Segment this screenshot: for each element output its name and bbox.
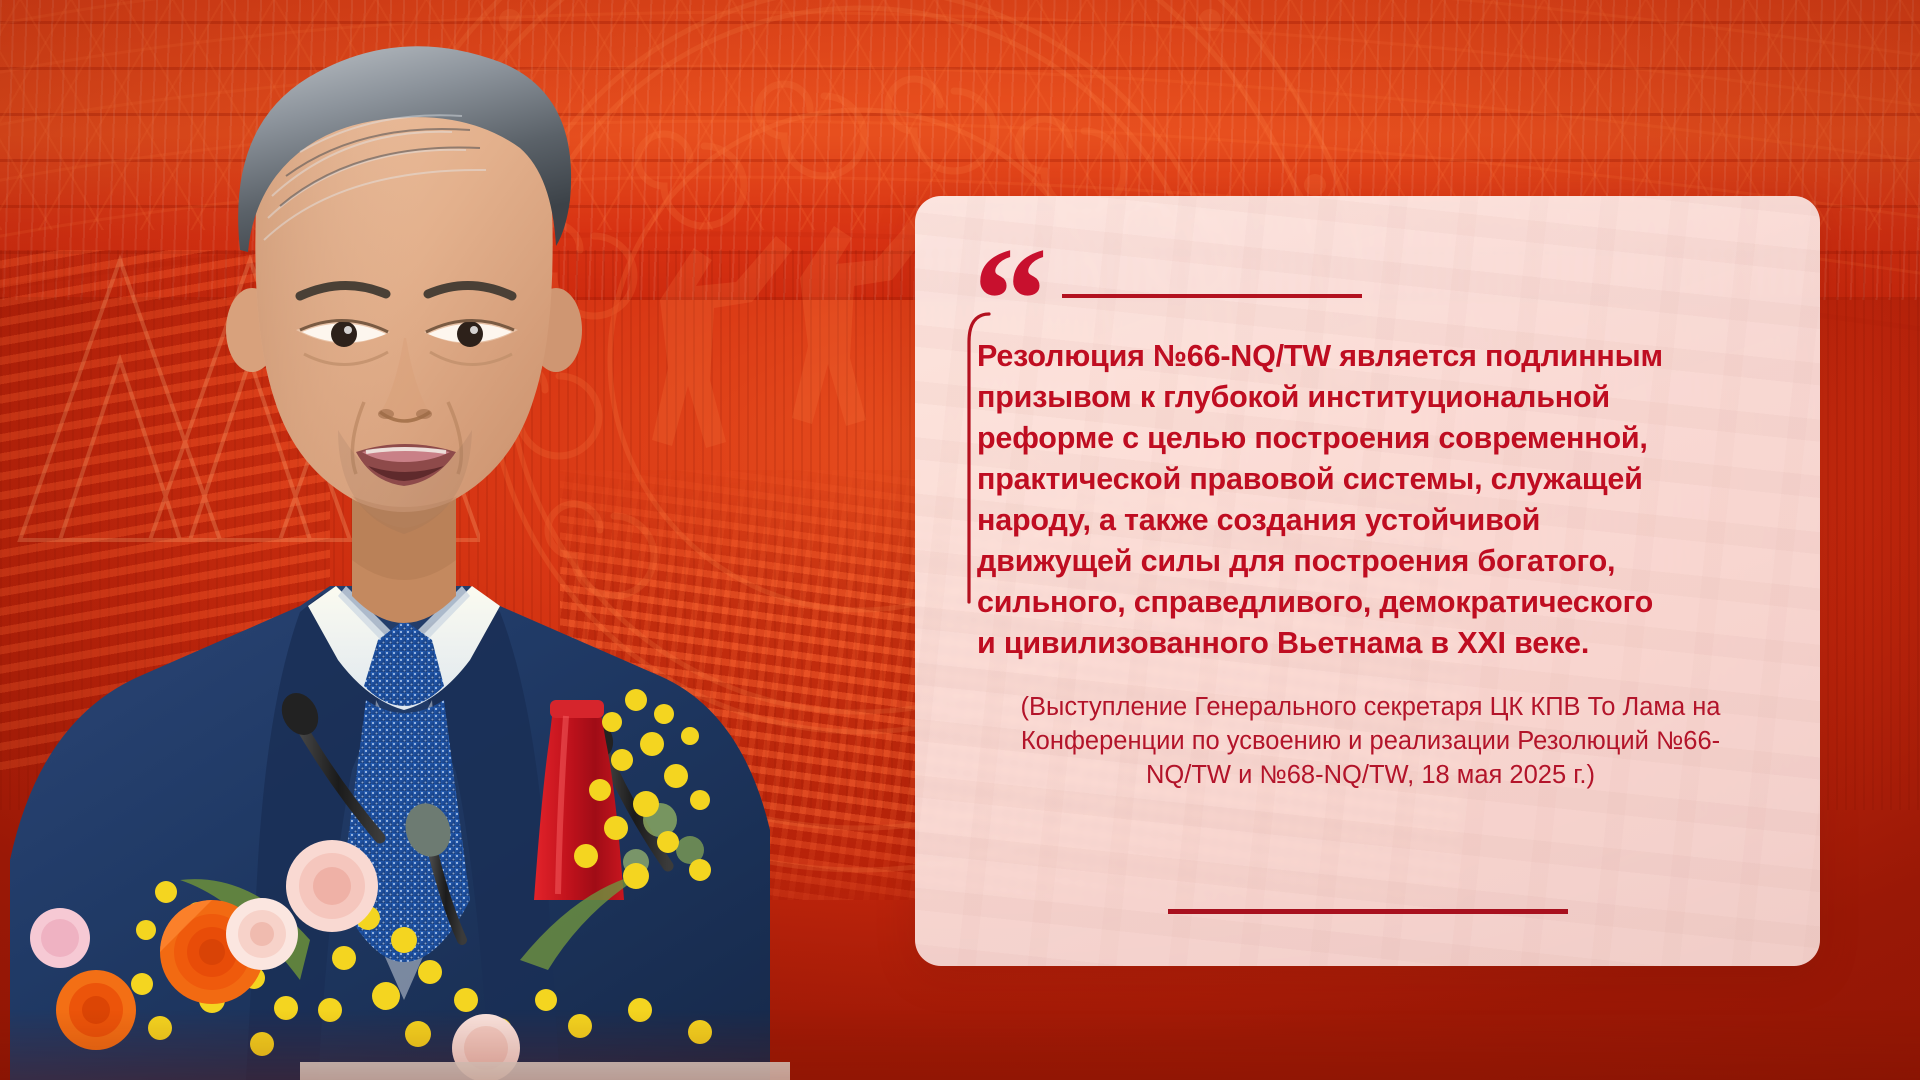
quote-top-rule (1062, 294, 1362, 298)
attribution-line: (Выступление Генерального секретаря ЦК К… (979, 690, 1762, 724)
quote-attribution: (Выступление Генерального секретаря ЦК К… (973, 690, 1768, 792)
quote-line: движущей силы для построения богатого, (977, 541, 1768, 582)
quote-bottom-rule (1168, 909, 1568, 914)
quote-line: и цивилизованного Вьетнама в XXI веке. (977, 623, 1768, 664)
attribution-line: NQ/TW и №68-NQ/TW, 18 мая 2025 г.) (979, 758, 1762, 792)
quote-line: призывом к глубокой институциональной (977, 377, 1768, 418)
quote-line: практической правовой системы, служащей (977, 459, 1768, 500)
quote-graphic-stage: “ Резолюция №66-NQ/TW является подлинным… (0, 0, 1920, 1080)
quote-card: “ Резолюция №66-NQ/TW является подлинным… (915, 196, 1820, 966)
speaker-photo (0, 0, 790, 1080)
quote-text: Резолюция №66-NQ/TW является подлинным п… (973, 336, 1768, 664)
quote-card-header: “ (973, 238, 1768, 334)
quote-line: Резолюция №66-NQ/TW является подлинным (977, 336, 1768, 377)
orange-rose-2 (56, 970, 136, 1050)
quote-line: народу, а также создания устойчивой (977, 500, 1768, 541)
quote-line: реформе с целью построения современной, (977, 418, 1768, 459)
head (226, 46, 582, 534)
attribution-line: Конференции по усвоению и реализации Рез… (979, 724, 1762, 758)
quote-line: сильного, справедливого, демократическог… (977, 582, 1768, 623)
